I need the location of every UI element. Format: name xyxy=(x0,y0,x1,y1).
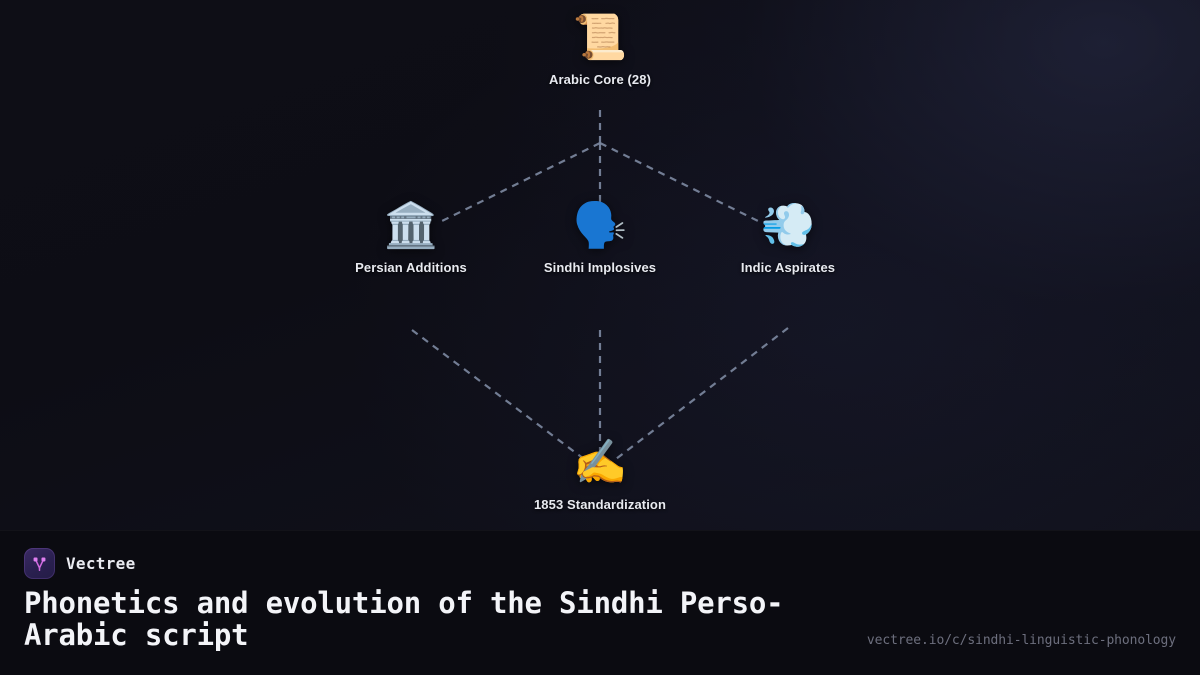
graph-node-indic-aspirates[interactable]: 💨 Indic Aspirates xyxy=(673,201,903,275)
graph-node-arabic-core[interactable]: 📜 Arabic Core (28) xyxy=(485,13,715,87)
page-url: vectree.io/c/sindhi-linguistic-phonology xyxy=(867,633,1176,652)
page-title: Phonetics and evolution of the Sindhi Pe… xyxy=(24,587,834,652)
dash-wind-icon: 💨 xyxy=(761,201,816,251)
scroll-icon: 📜 xyxy=(573,13,628,63)
graph-node-label: 1853 Standardization xyxy=(534,497,666,512)
graph-canvas[interactable]: 📜 Arabic Core (28) 🏛️ Persian Additions … xyxy=(0,0,1200,530)
vectree-branch-logo-icon xyxy=(24,548,55,579)
brand-name: Vectree xyxy=(66,554,136,573)
vectree-share-card: 📜 Arabic Core (28) 🏛️ Persian Additions … xyxy=(0,0,1200,675)
graph-node-1853-standardization[interactable]: ✍️ 1853 Standardization xyxy=(485,438,715,512)
brand[interactable]: Vectree xyxy=(24,547,1176,579)
classical-building-icon: 🏛️ xyxy=(384,201,439,251)
title-row: Phonetics and evolution of the Sindhi Pe… xyxy=(24,587,1176,652)
graph-node-label: Arabic Core (28) xyxy=(549,72,651,87)
branch-glyph xyxy=(30,554,49,573)
footer: Vectree Phonetics and evolution of the S… xyxy=(0,530,1200,675)
speaking-head-icon: 🗣️ xyxy=(573,201,628,251)
writing-hand-icon: ✍️ xyxy=(573,438,628,488)
graph-node-label: Persian Additions xyxy=(355,260,467,275)
graph-node-label: Indic Aspirates xyxy=(741,260,835,275)
graph-node-label: Sindhi Implosives xyxy=(544,260,656,275)
